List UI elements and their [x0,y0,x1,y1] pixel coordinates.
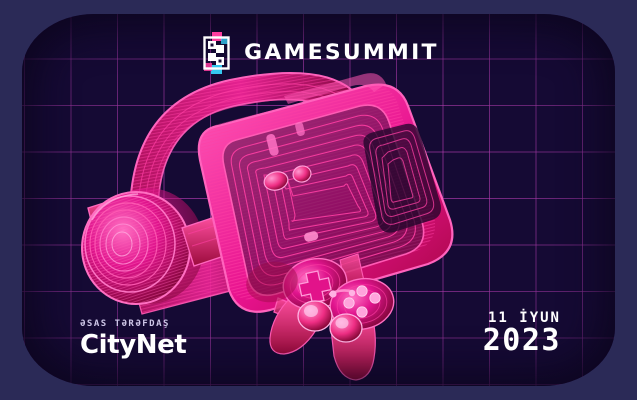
analog-stick-left [298,301,332,331]
gamesummit-wordmark: GAMESUMMIT [244,42,439,64]
event-banner: GAMESUMMIT ƏSAS TƏRƏFDAŞ CityNet 11 İYUN… [0,0,637,400]
event-date-year: 2023 [483,325,561,357]
event-date-block: 11 İYUN 2023 [483,311,561,357]
sponsor-block: ƏSAS TƏRƏFDAŞ CityNet [80,319,186,358]
crt-screen: GAMESUMMIT ƏSAS TƏRƏFDAŞ CityNet 11 İYUN… [22,14,615,386]
sponsor-label: ƏSAS TƏRƏFDAŞ [80,319,186,329]
brand-lockup: GAMESUMMIT [22,32,615,74]
analog-stick-right [330,314,362,342]
gamesummit-logo-mark [200,32,233,74]
sponsor-name: CityNet [80,332,186,358]
